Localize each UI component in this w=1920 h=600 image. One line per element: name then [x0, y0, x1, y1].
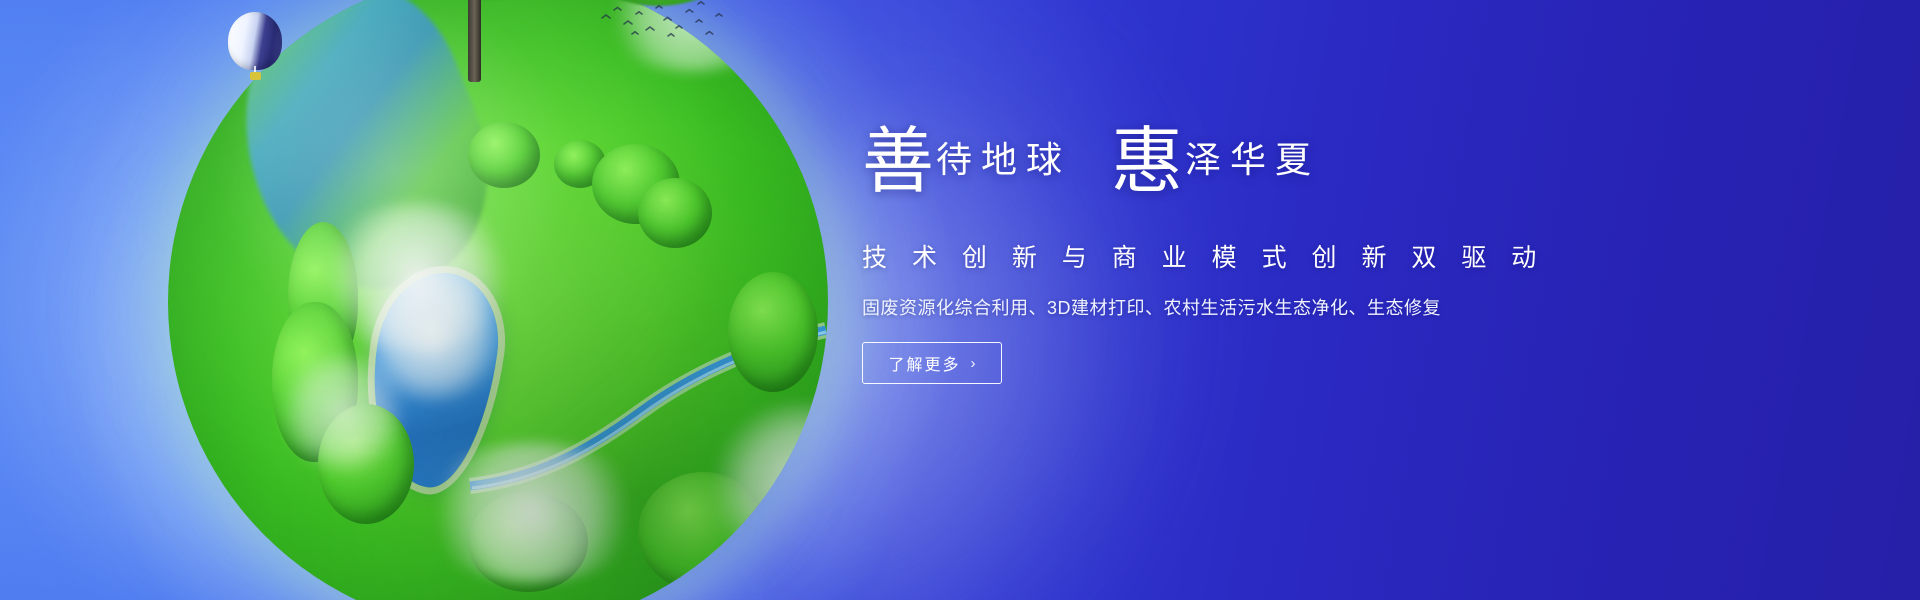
globe-tree-7	[318, 404, 414, 524]
globe-tree-10	[728, 272, 818, 392]
globe-tree-8	[468, 492, 588, 592]
globe-tree-3	[592, 144, 680, 224]
globe-lake	[359, 265, 508, 495]
headline-char-1: 善	[862, 122, 936, 202]
globe-sphere	[168, 0, 828, 600]
learn-more-button[interactable]: 了解更多 ›	[862, 342, 1002, 384]
chevron-right-icon: ›	[971, 355, 976, 372]
hero-tagline: 固废资源化综合利用、3D建材打印、农村生活污水生态净化、生态修复	[862, 294, 1562, 320]
globe-illustration	[168, 0, 828, 600]
globe-tree-6	[272, 302, 358, 462]
globe-mist-3	[418, 442, 648, 582]
hero-copy-block: 善待地球惠泽华夏 技 术 创 新 与 商 业 模 式 创 新 双 驱 动 固废资…	[862, 126, 1562, 384]
hero-subtitle: 技 术 创 新 与 商 业 模 式 创 新 双 驱 动	[862, 238, 1562, 274]
globe-mist-1	[318, 202, 518, 352]
hero-banner: 善待地球惠泽华夏 技 术 创 新 与 商 业 模 式 创 新 双 驱 动 固废资…	[0, 0, 1920, 600]
hot-air-balloon-icon	[228, 12, 282, 82]
globe-mist-2	[358, 272, 508, 402]
headline-char-2: 惠	[1111, 122, 1185, 202]
birds-flock-icon	[598, 0, 728, 44]
globe-tree-1	[468, 122, 540, 188]
hero-tree-trunk	[468, 0, 481, 82]
globe-tree-4	[638, 178, 712, 248]
page-title: 善待地球惠泽华夏	[862, 126, 1562, 222]
globe-tree-5	[288, 222, 358, 372]
globe-tree-2	[554, 140, 606, 188]
balloon-envelope	[228, 12, 282, 70]
balloon-basket	[250, 72, 261, 80]
globe-mist-6	[278, 352, 408, 472]
headline-rest-1: 待地球	[936, 140, 1071, 180]
learn-more-label: 了解更多	[888, 351, 960, 375]
headline-rest-2: 泽华夏	[1185, 140, 1320, 180]
